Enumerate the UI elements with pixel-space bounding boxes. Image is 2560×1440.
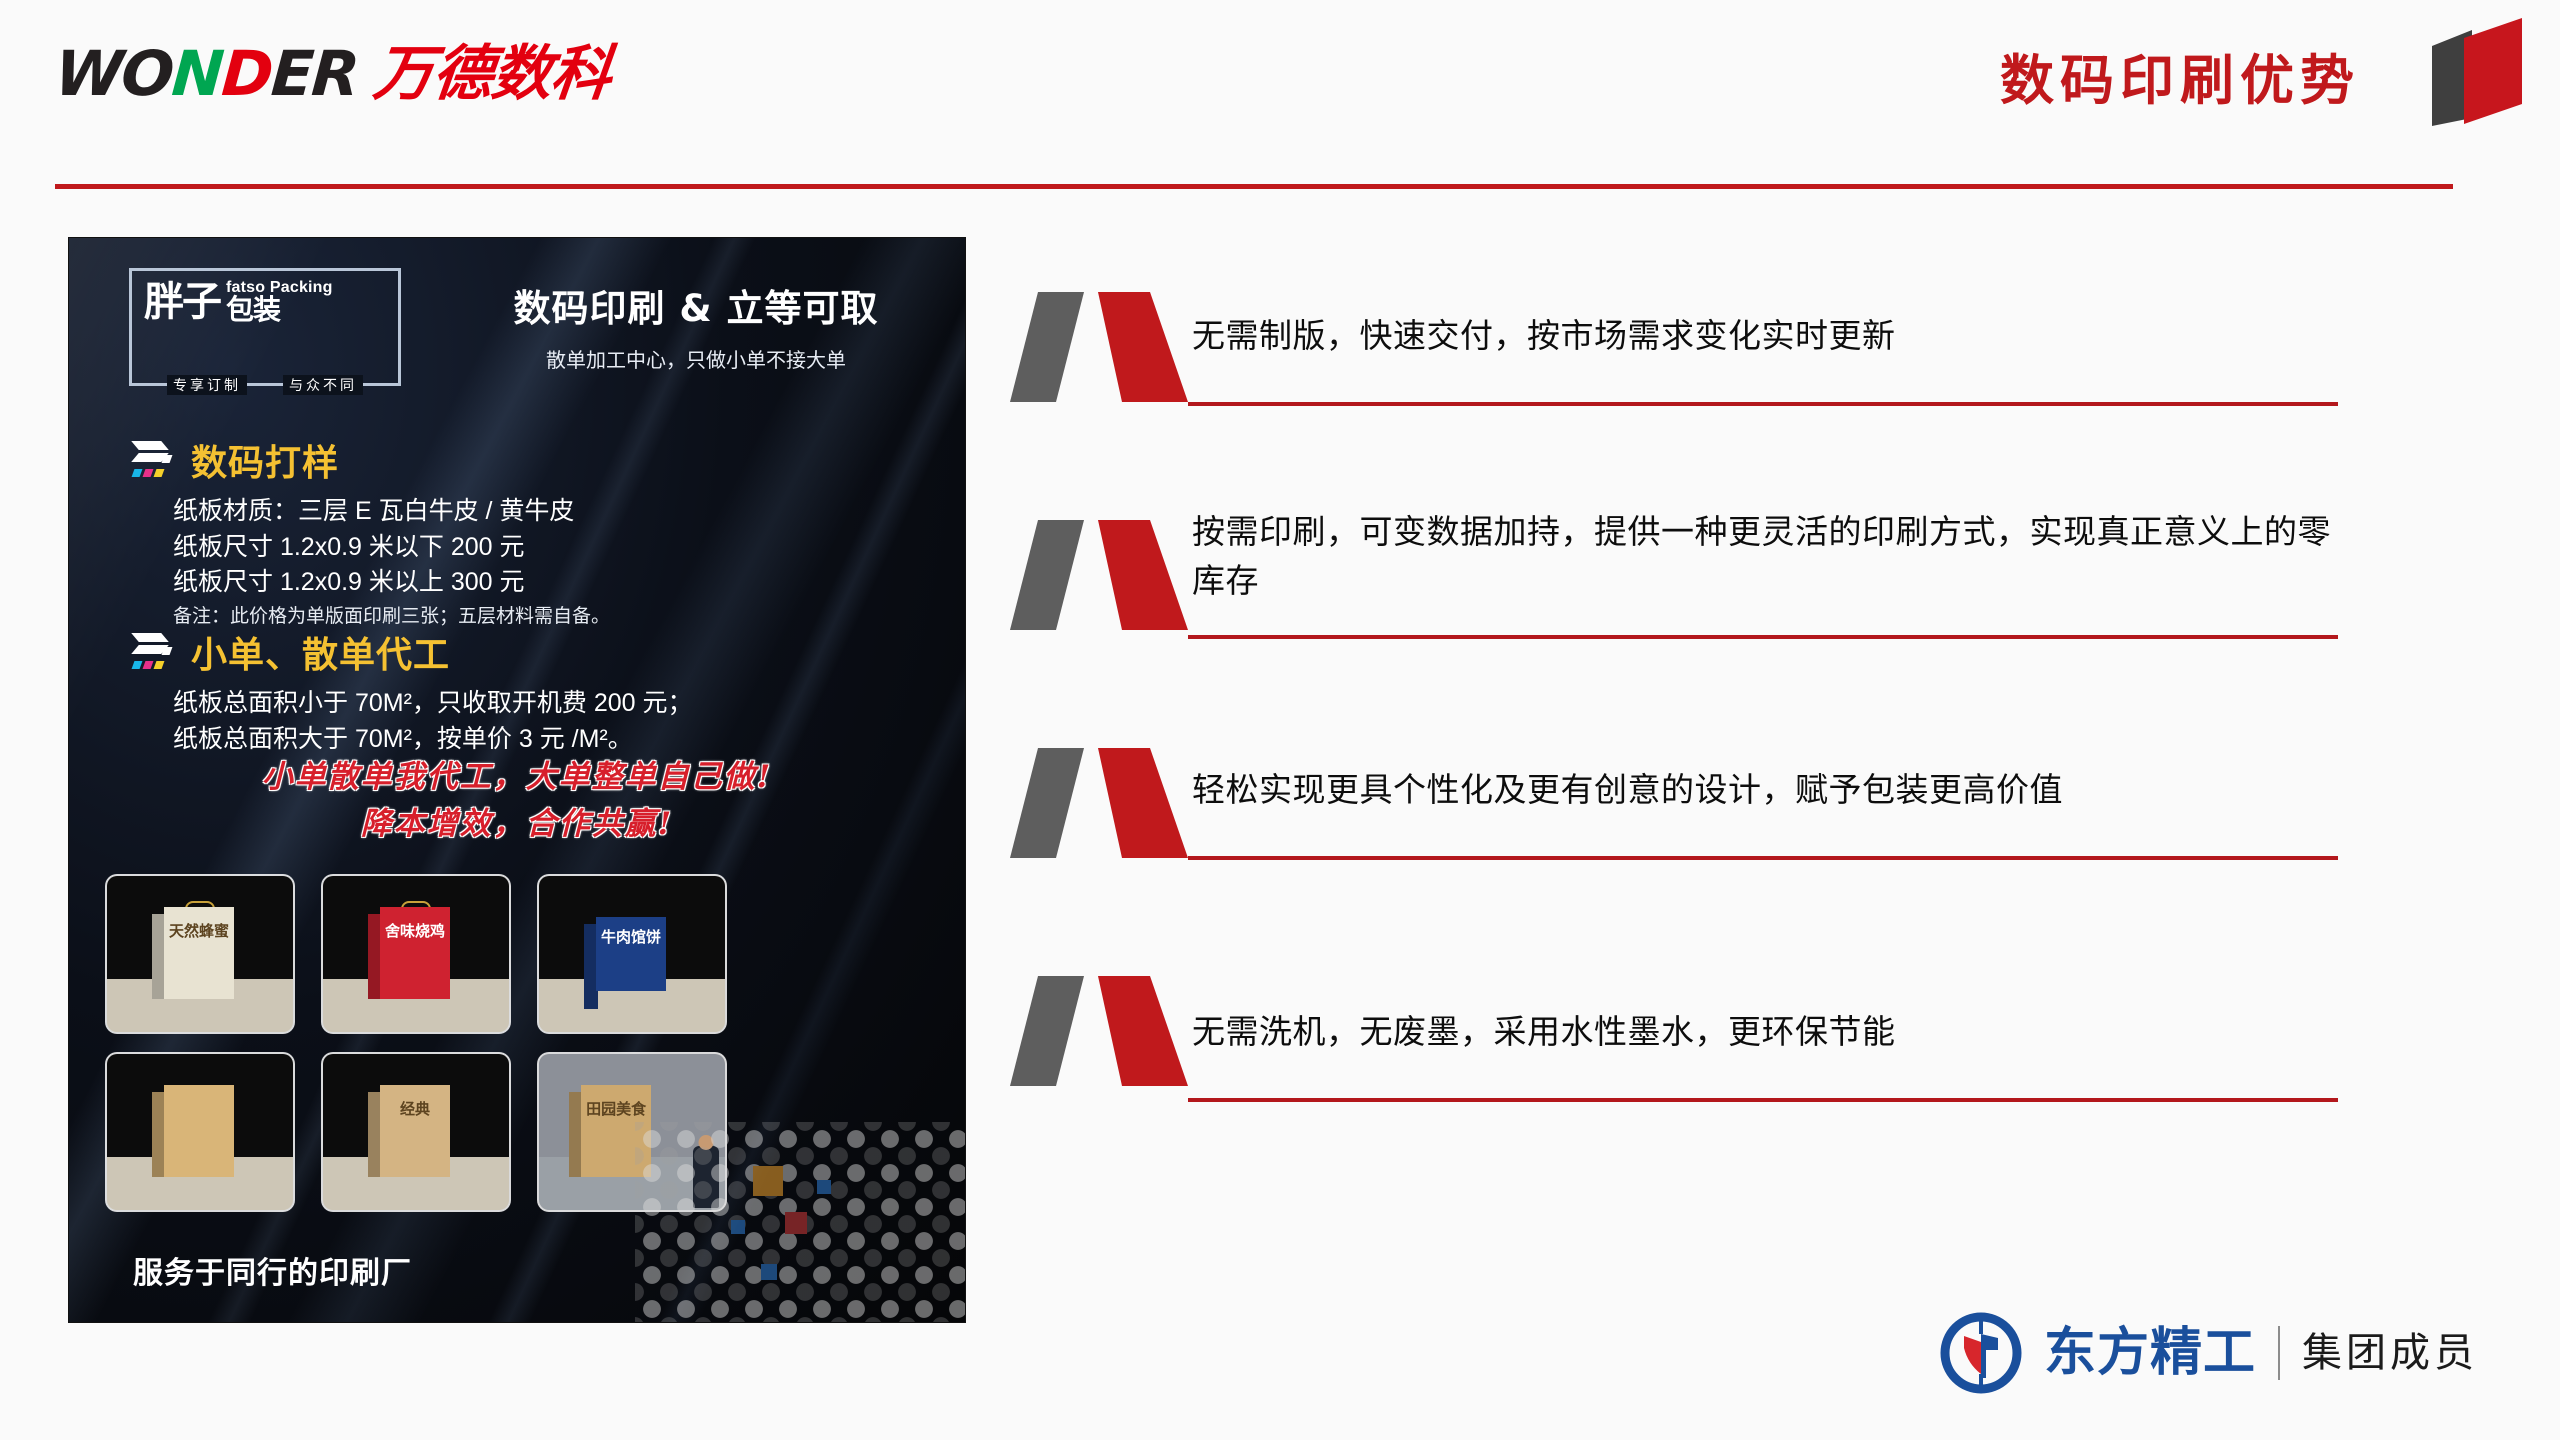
section-line: 纸板尺寸 1.2x0.9 米以上 300 元 bbox=[173, 565, 931, 601]
wonder-wordmark-red-letter: D bbox=[220, 45, 274, 104]
advantages-list: 无需制版，快速交付，按市场需求变化实时更新 按需印刷，可变数据加持，提供一种更灵… bbox=[1010, 262, 2340, 1174]
section-line: 纸板材质：三层 E 瓦白牛皮 / 黄牛皮 bbox=[173, 494, 931, 530]
footer-company-name: 东方精工 bbox=[2044, 1327, 2256, 1379]
advantage-text: 无需制版，快速交付，按市场需求变化实时更新 bbox=[1192, 312, 2332, 361]
page-title: 数码印刷优势 bbox=[2000, 36, 2360, 115]
advantage-item-1: 无需制版，快速交付，按市场需求变化实时更新 bbox=[1010, 262, 2340, 490]
product-photo-label: 天然蜂蜜 bbox=[164, 924, 234, 940]
red-parallelogram-mark-icon bbox=[2414, 8, 2534, 132]
section-title: 小单、散单代工 bbox=[191, 626, 450, 678]
poster-caption: 服务于同行的印刷厂 bbox=[133, 1248, 412, 1292]
section-line: 纸板尺寸 1.2x0.9 米以下 200 元 bbox=[173, 530, 931, 566]
advantage-underline bbox=[1188, 1098, 2338, 1102]
product-photo-label: 舍味烧鸡 bbox=[380, 924, 450, 940]
promo-poster-image: 胖子 fatso Packing 包装 专享订制 与众不同 数码印刷 & 立等可… bbox=[69, 238, 965, 1322]
section-line: 纸板总面积小于 70M²，只收取开机费 200 元； bbox=[173, 686, 931, 722]
fatso-logo-cn-big: 胖子 bbox=[144, 282, 220, 322]
fatso-packing-logo: 胖子 fatso Packing 包装 专享订制 与众不同 bbox=[129, 268, 401, 386]
product-photo: 牛肉馆饼 bbox=[539, 876, 725, 1032]
slide-root: WONDER 万德数科 数码印刷优势 胖子 fatso Packing 包装 专… bbox=[0, 0, 2560, 1440]
product-photo: 天然蜂蜜 bbox=[107, 876, 293, 1032]
poster-headline-block: 数码印刷 & 立等可取 散单加工中心，只做小单不接大单 bbox=[461, 278, 931, 373]
product-photo bbox=[107, 1054, 293, 1210]
footer-group-logo: 东方精工 集团成员 bbox=[1940, 1312, 2478, 1394]
fatso-logo-tag-right: 与众不同 bbox=[283, 375, 363, 395]
advantage-underline bbox=[1188, 856, 2338, 860]
wonder-brand-logo: WONDER 万德数科 bbox=[55, 36, 610, 104]
product-photo-label: 经典 bbox=[380, 1102, 450, 1118]
product-photo: 舍味烧鸡 bbox=[323, 876, 509, 1032]
product-photo-label: 牛肉馆饼 bbox=[596, 930, 666, 946]
fatso-logo-cn-sub: 包装 bbox=[226, 296, 333, 324]
footer-divider bbox=[2278, 1326, 2280, 1380]
dongfang-shield-circle-icon bbox=[1940, 1312, 2022, 1394]
poster-slogan-line2: 降本增效，合作共赢! bbox=[69, 801, 965, 848]
fatso-logo-tag-left: 专享订制 bbox=[167, 375, 247, 395]
slanted-double-bar-icon bbox=[1010, 518, 1200, 636]
poster-headline: 数码印刷 & 立等可取 bbox=[461, 278, 931, 332]
product-photo-label: 田园美食 bbox=[581, 1102, 651, 1118]
advantage-text: 按需印刷，可变数据加持，提供一种更灵活的印刷方式，实现真正意义上的零库存 bbox=[1192, 508, 2332, 606]
advantage-text: 无需洗机，无废墨，采用水性墨水，更环保节能 bbox=[1192, 1008, 2332, 1057]
product-photo: 经典 bbox=[323, 1054, 509, 1210]
poster-subheadline: 散单加工中心，只做小单不接大单 bbox=[461, 344, 931, 373]
poster-section-small-orders: 小单、散单代工 纸板总面积小于 70M²，只收取开机费 200 元； 纸板总面积… bbox=[131, 626, 931, 757]
poster-slogan: 小单散单我代工，大单整单自己做! 降本增效，合作共赢! bbox=[69, 754, 965, 847]
advantage-underline bbox=[1188, 635, 2338, 639]
wonder-wordmark: WONDER bbox=[53, 45, 360, 104]
wonder-wordmark-pre: WO bbox=[53, 45, 174, 104]
wonder-wordmark-green-letter: N bbox=[170, 45, 224, 104]
poster-slogan-line1: 小单散单我代工，大单整单自己做! bbox=[69, 754, 965, 801]
slanted-double-bar-icon bbox=[1010, 746, 1200, 864]
footer-member-label: 集团成员 bbox=[2302, 1333, 2478, 1373]
section-title: 数码打样 bbox=[191, 434, 339, 486]
wonder-wordmark-post: ER bbox=[269, 45, 359, 104]
halftone-dots-decoration bbox=[635, 1122, 965, 1322]
advantage-item-4: 无需洗机，无废墨，采用水性墨水，更环保节能 bbox=[1010, 946, 2340, 1174]
slanted-double-bar-icon bbox=[1010, 290, 1200, 408]
double-chevron-cmyk-icon bbox=[131, 439, 177, 481]
advantage-text: 轻松实现更具个性化及更有创意的设计，赋予包装更高价值 bbox=[1192, 766, 2332, 815]
poster-section-proofing: 数码打样 纸板材质：三层 E 瓦白牛皮 / 黄牛皮 纸板尺寸 1.2x0.9 米… bbox=[131, 434, 931, 630]
advantage-item-2: 按需印刷，可变数据加持，提供一种更灵活的印刷方式，实现真正意义上的零库存 bbox=[1010, 490, 2340, 718]
advantage-underline bbox=[1188, 402, 2338, 406]
wonder-brand-chinese: 万德数科 bbox=[370, 44, 612, 104]
slanted-double-bar-icon bbox=[1010, 974, 1200, 1092]
header-divider bbox=[55, 184, 2453, 189]
section-line: 纸板总面积大于 70M²，按单价 3 元 /M²。 bbox=[173, 722, 931, 758]
advantage-item-3: 轻松实现更具个性化及更有创意的设计，赋予包装更高价值 bbox=[1010, 718, 2340, 946]
double-chevron-cmyk-icon bbox=[131, 631, 177, 673]
